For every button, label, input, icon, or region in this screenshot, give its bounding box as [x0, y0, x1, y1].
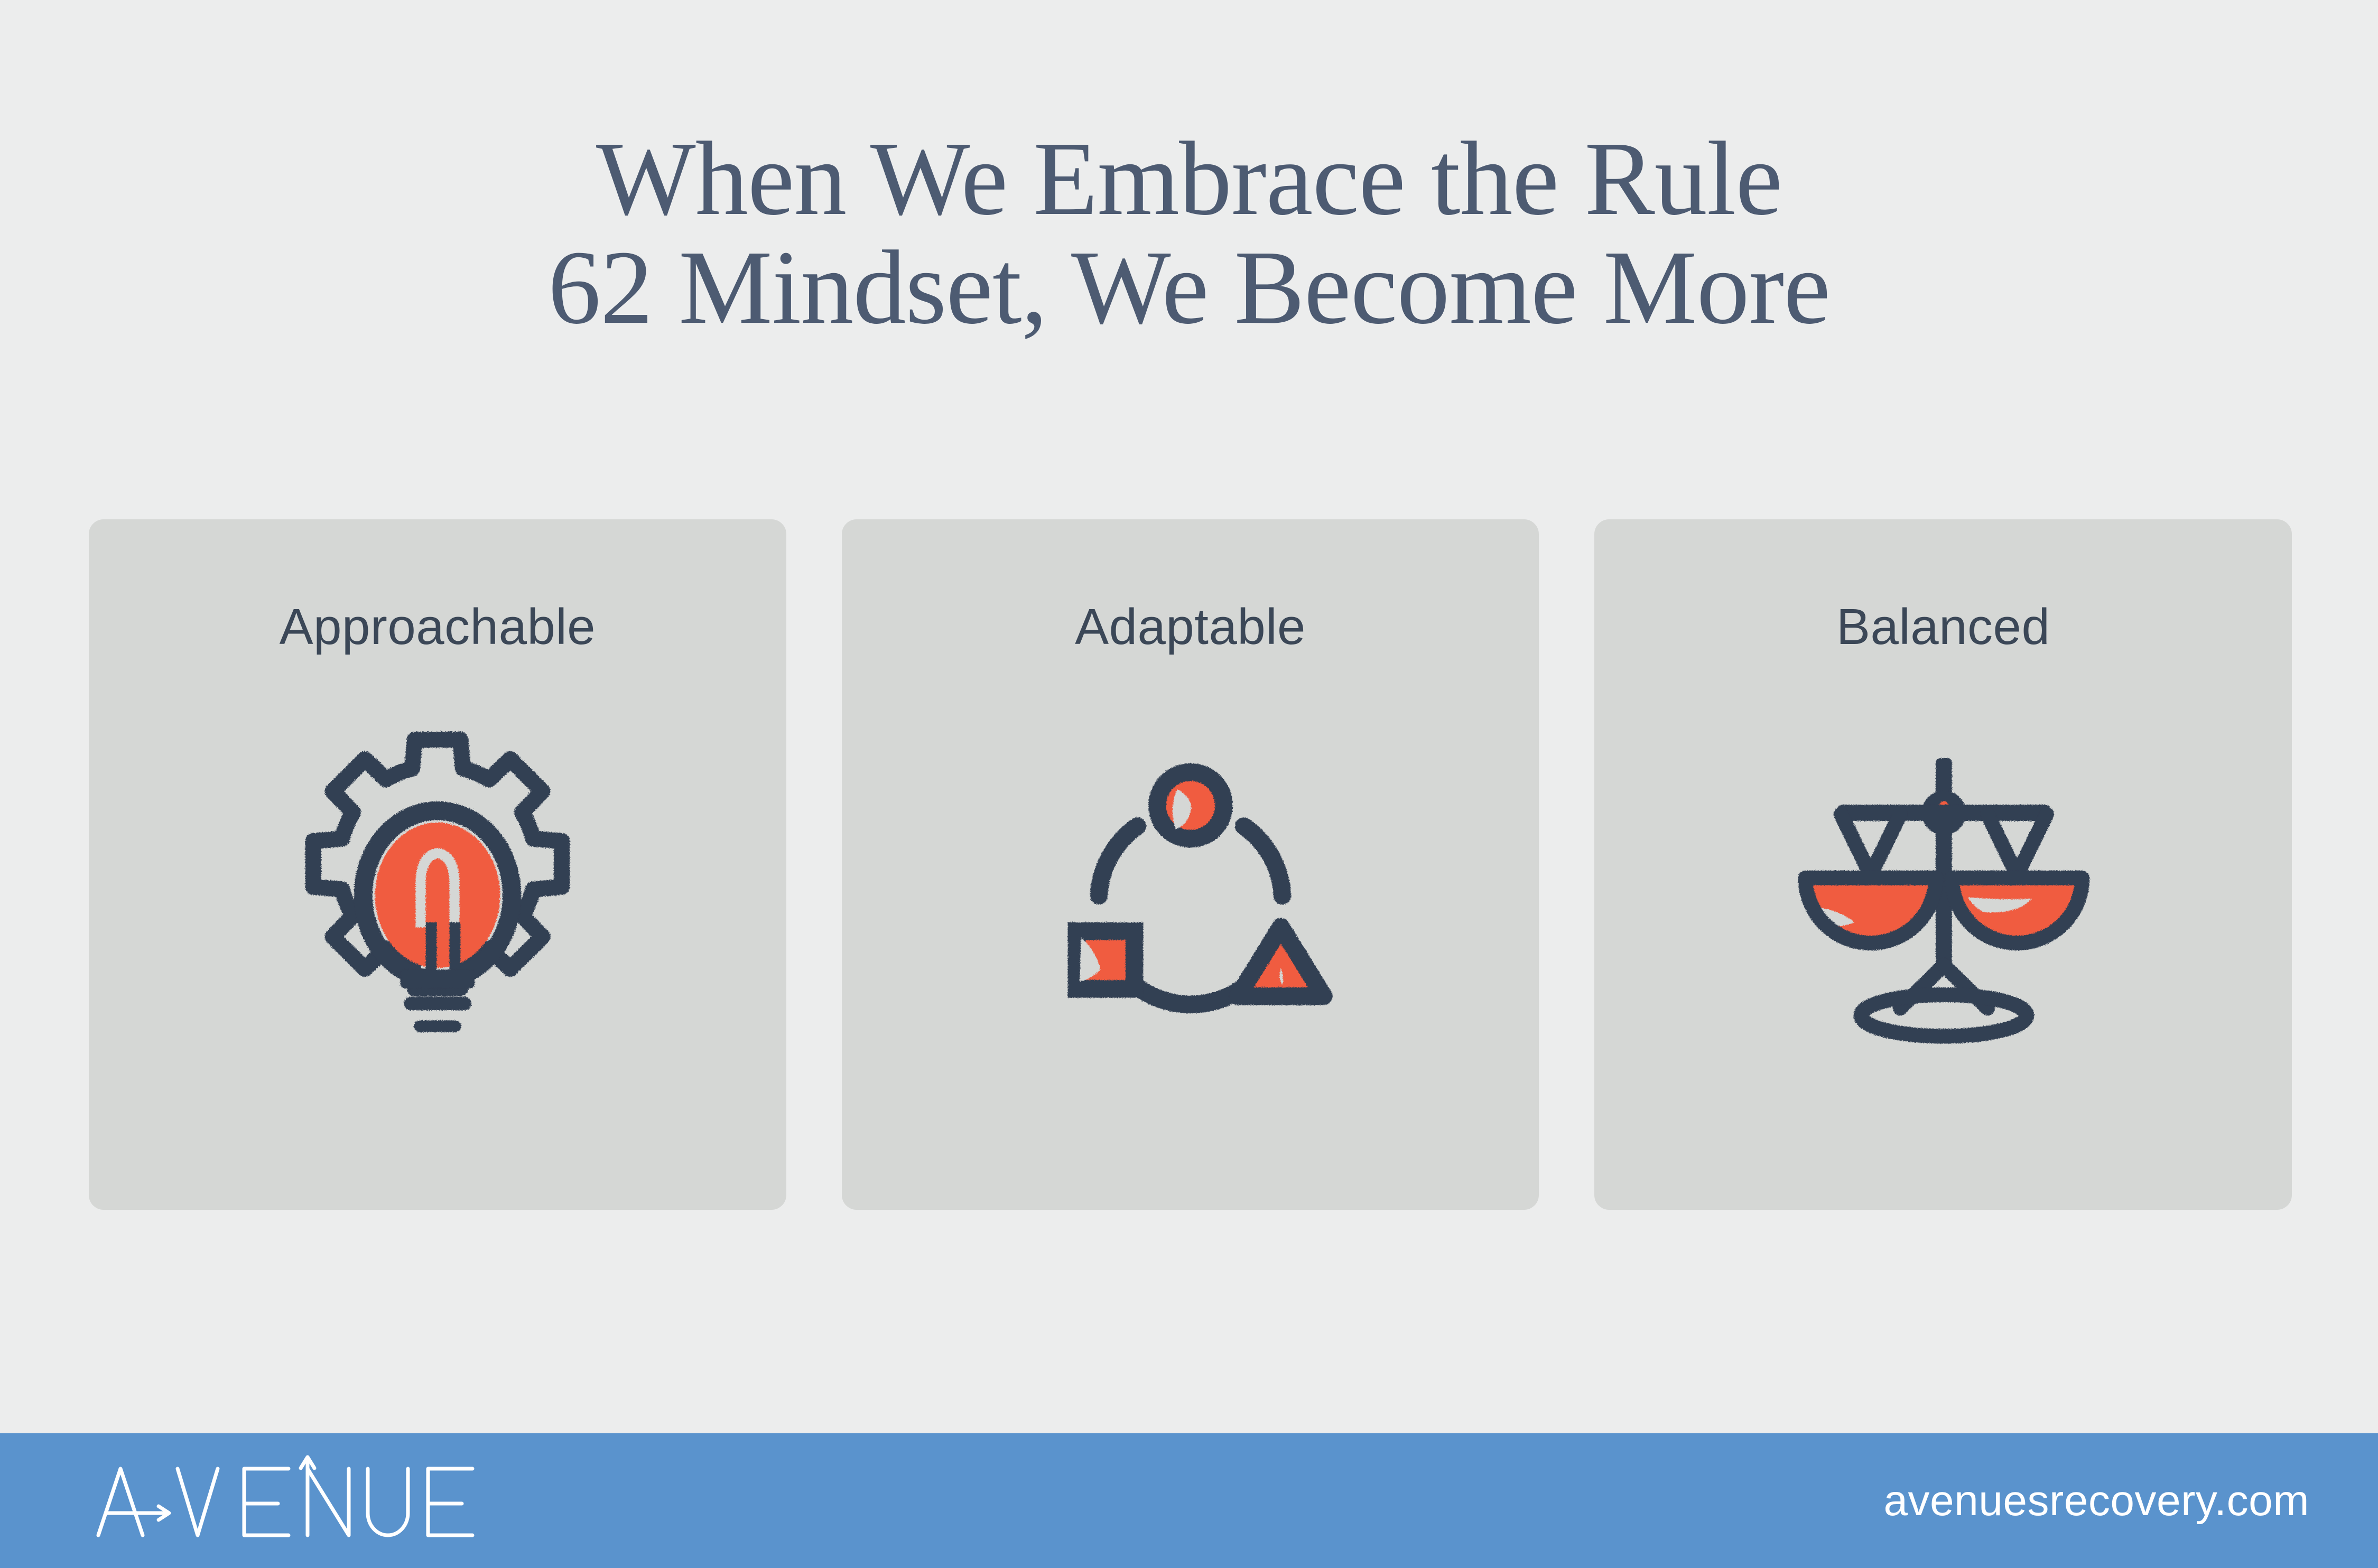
page-title: When We Embrace the Rule 62 Mindset, We … — [0, 125, 2378, 342]
card-adaptable[interactable]: Adaptable — [842, 519, 1539, 1210]
footer-website-url[interactable]: avenuesrecovery.com — [1883, 1479, 2309, 1523]
card-label-adaptable: Adaptable — [1075, 602, 1306, 652]
gear-lightbulb-icon — [210, 693, 665, 1105]
title-line-2: 62 Mindset, We Become More — [0, 234, 2378, 342]
value-cards-row: Approachable — [89, 519, 2292, 1210]
card-approachable[interactable]: Approachable — [89, 519, 786, 1210]
shapes-cycle-icon — [963, 693, 1418, 1105]
footer-bar: avenuesrecovery.com — [0, 1433, 2378, 1568]
balance-scale-icon — [1716, 693, 2170, 1105]
card-balanced[interactable]: Balanced — [1594, 519, 2292, 1210]
card-label-approachable: Approachable — [280, 602, 596, 652]
avenues-logo[interactable] — [79, 1451, 481, 1551]
card-label-balanced: Balanced — [1836, 602, 2050, 652]
title-line-1: When We Embrace the Rule — [0, 125, 2378, 234]
